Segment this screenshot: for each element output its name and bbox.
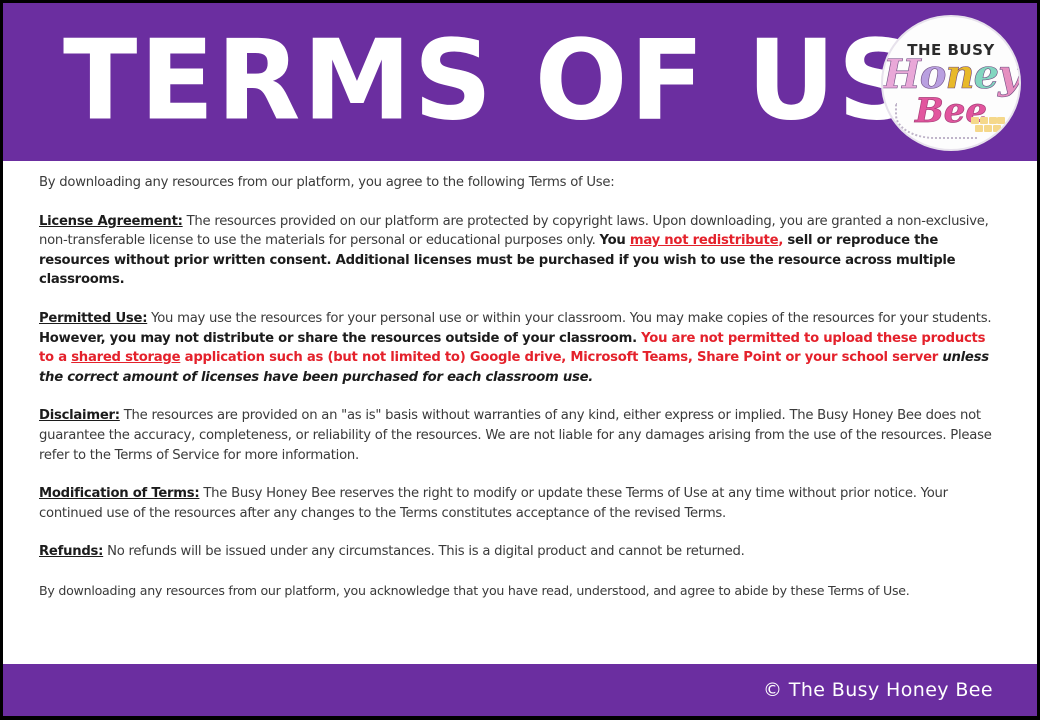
section-heading-refunds: Refunds: — [39, 544, 103, 559]
closing-text: By downloading any resources from our pl… — [39, 583, 910, 598]
section-permitted-red-underline: shared storage — [71, 350, 180, 365]
section-disclaimer: Disclaimer: The resources are provided o… — [39, 406, 1001, 465]
section-modification-of-terms: Modification of Terms: The Busy Honey Be… — [39, 484, 1001, 523]
section-heading-modification: Modification of Terms: — [39, 486, 199, 501]
page-header: TERMS OF USE THE BUSY Honey Bee — [3, 3, 1037, 161]
honeycomb-icon — [971, 117, 1005, 135]
terms-of-use-page: TERMS OF USE THE BUSY Honey Bee — [0, 0, 1040, 720]
page-footer: © The Busy Honey Bee — [3, 664, 1037, 716]
terms-content: By downloading any resources from our pl… — [39, 173, 1001, 601]
section-license-red-underline: may not redistribute — [630, 233, 778, 248]
intro-text: By downloading any resources from our pl… — [39, 175, 614, 190]
intro-paragraph: By downloading any resources from our pl… — [39, 173, 1001, 193]
section-permitted-bold-1: However, you may not distribute or share… — [39, 331, 641, 346]
closing-paragraph: By downloading any resources from our pl… — [39, 581, 1001, 601]
footer-copyright: © The Busy Honey Bee — [763, 664, 993, 716]
section-permitted-text: You may use the resources for your perso… — [147, 311, 991, 326]
brand-logo: THE BUSY Honey Bee — [883, 17, 1019, 149]
section-heading-disclaimer: Disclaimer: — [39, 408, 120, 423]
section-refunds-text: No refunds will be issued under any circ… — [103, 544, 744, 559]
section-permitted-red-2: application such as (but not limited to)… — [180, 350, 942, 365]
section-permitted-use: Permitted Use: You may use the resources… — [39, 309, 1001, 387]
page-title: TERMS OF USE — [63, 3, 979, 161]
section-license-bold-1: You — [599, 233, 629, 248]
section-heading-license: License Agreement: — [39, 214, 183, 229]
logo-inner: THE BUSY Honey Bee — [883, 17, 1019, 149]
section-refunds: Refunds: No refunds will be issued under… — [39, 542, 1001, 562]
section-license-agreement: License Agreement: The resources provide… — [39, 212, 1001, 290]
section-heading-permitted: Permitted Use: — [39, 311, 147, 326]
section-disclaimer-text: The resources are provided on an "as is"… — [39, 408, 992, 462]
